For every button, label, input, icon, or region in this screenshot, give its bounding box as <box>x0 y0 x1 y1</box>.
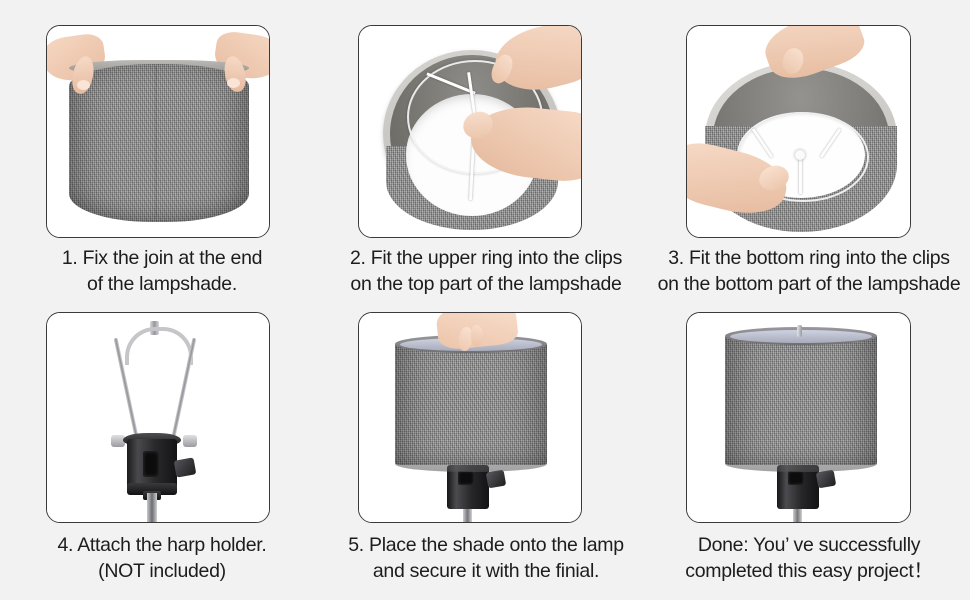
step-4-caption: 4. Attach the harp holder. (NOT included… <box>0 532 324 584</box>
step-5-caption-line-2: and secure it with the finial. <box>324 558 648 584</box>
step-1-caption: 1. Fix the join at the end of the lampsh… <box>0 245 324 297</box>
lamp-stem <box>147 493 157 522</box>
step-2-photo <box>359 26 581 237</box>
step-1-photo <box>47 26 269 237</box>
lampshade-body <box>395 343 547 465</box>
step-6-caption-line-1: Done: You’ ve successfully <box>648 532 970 558</box>
step-cell-6: Done: You’ ve successfully completed thi… <box>648 300 970 600</box>
lampshade-fabric-cylinder <box>69 64 249 222</box>
lamp-stem <box>463 509 472 522</box>
right-fingernail <box>227 78 240 88</box>
left-fingernail <box>77 80 90 90</box>
step-1-photo-frame <box>46 25 270 238</box>
instruction-step-grid: 1. Fix the join at the end of the lampsh… <box>0 0 970 600</box>
step-2-photo-frame <box>358 25 582 238</box>
step-6-photo <box>687 313 910 522</box>
step-cell-5: 5. Place the shade onto the lamp and sec… <box>324 300 648 600</box>
step-3-caption: 3. Fit the bottom ring into the clips on… <box>648 245 970 297</box>
step-2-caption-line-2: on the top part of the lampshade <box>324 271 648 297</box>
step-2-caption-line-1: 2. Fit the upper ring into the clips <box>324 245 648 271</box>
step-6-caption: Done: You’ ve successfully completed thi… <box>648 532 970 584</box>
harp-arch <box>125 327 193 365</box>
step-2-caption: 2. Fit the upper ring into the clips on … <box>324 245 648 297</box>
step-5-photo <box>359 313 581 522</box>
socket-slot <box>458 471 474 485</box>
step-3-photo <box>687 26 910 237</box>
step-3-caption-line-1: 3. Fit the bottom ring into the clips <box>648 245 970 271</box>
step-1-caption-line-1: 1. Fix the join at the end <box>0 245 324 271</box>
step-5-caption-line-1: 5. Place the shade onto the lamp <box>324 532 648 558</box>
step-3-caption-line-2: on the bottom part of the lampshade <box>648 271 970 297</box>
step-cell-2: 2. Fit the upper ring into the clips on … <box>324 0 648 300</box>
step-5-caption: 5. Place the shade onto the lamp and sec… <box>324 532 648 584</box>
step-cell-4: 4. Attach the harp holder. (NOT included… <box>0 300 324 600</box>
step-6-caption-line-2: completed this easy project！ <box>648 558 970 584</box>
step-5-photo-frame <box>358 312 582 523</box>
ring-spoke-3 <box>799 154 802 194</box>
step-3-photo-frame <box>686 25 911 238</box>
ring-hub <box>795 150 805 160</box>
socket-switch-knob <box>486 470 507 489</box>
lampshade-body <box>725 335 877 465</box>
step-6-photo-frame <box>686 312 911 523</box>
socket-switch-knob <box>816 470 837 489</box>
harp-foot-right <box>183 435 197 447</box>
step-cell-1: 1. Fix the join at the end of the lampsh… <box>0 0 324 300</box>
socket-switch-knob <box>174 457 197 477</box>
finial <box>797 325 802 337</box>
step-4-caption-line-2: (NOT included) <box>0 558 324 584</box>
lamp-stem <box>793 509 802 522</box>
socket-slot <box>143 451 159 477</box>
socket-slot <box>788 471 804 485</box>
step-4-caption-line-1: 4. Attach the harp holder. <box>0 532 324 558</box>
fabric-seam <box>155 66 157 218</box>
step-1-caption-line-2: of the lampshade. <box>0 271 324 297</box>
step-4-photo <box>47 313 269 522</box>
step-4-photo-frame <box>46 312 270 523</box>
step-cell-3: 3. Fit the bottom ring into the clips on… <box>648 0 970 300</box>
